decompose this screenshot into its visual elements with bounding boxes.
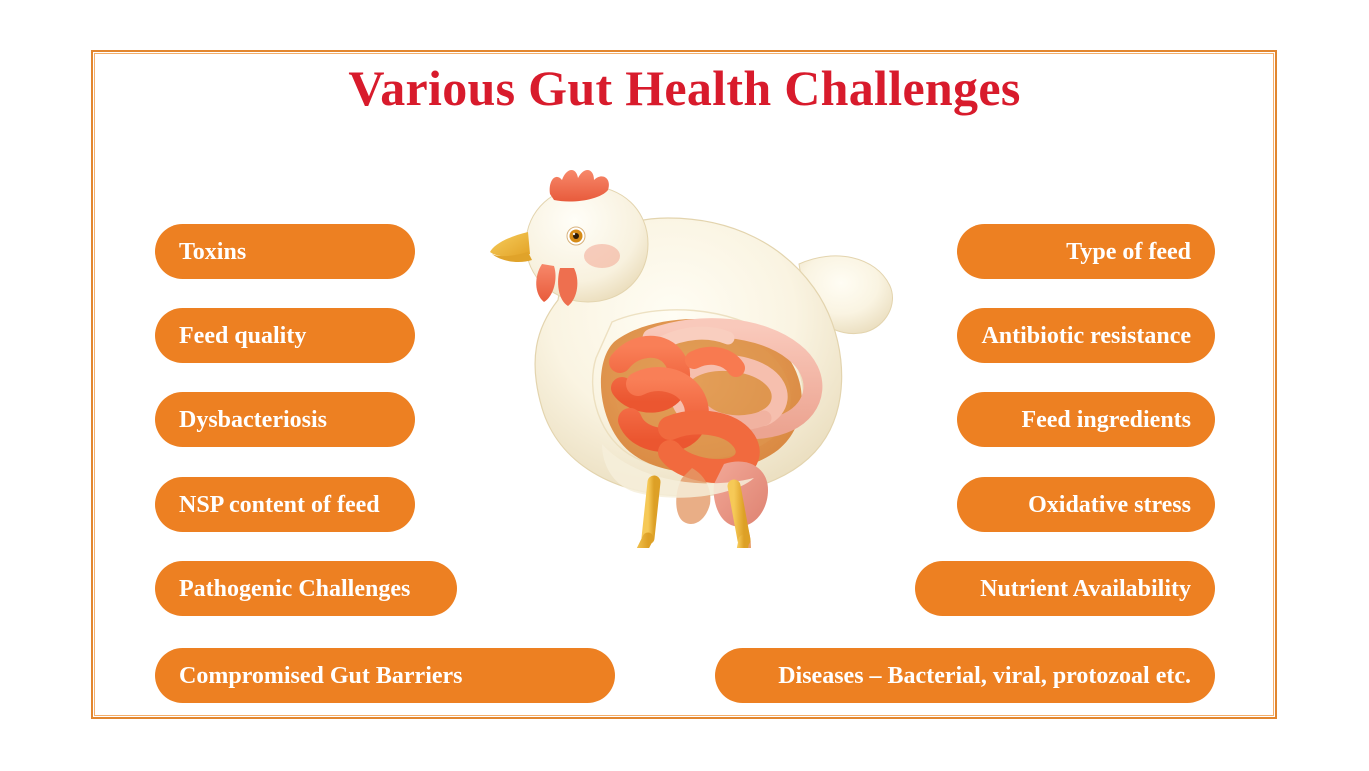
infographic-poster: Various Gut Health Challenges <box>0 0 1369 771</box>
challenge-pill-label: Antibiotic resistance <box>981 323 1215 349</box>
challenge-pill-label: Nutrient Availability <box>980 576 1215 602</box>
challenge-pill-antibiotic-resistance[interactable]: Antibiotic resistance <box>957 308 1215 363</box>
chicken-digestive-anatomy-illustration <box>462 152 898 548</box>
challenge-pill-compromised-gut-barriers[interactable]: Compromised Gut Barriers <box>155 648 615 703</box>
challenge-pill-nsp-content-of-feed[interactable]: NSP content of feed <box>155 477 415 532</box>
challenge-pill-label: NSP content of feed <box>155 492 380 518</box>
challenge-pill-label: Feed quality <box>155 323 306 349</box>
challenge-pill-pathogenic-challenges[interactable]: Pathogenic Challenges <box>155 561 457 616</box>
challenge-pill-nutrient-availability[interactable]: Nutrient Availability <box>915 561 1215 616</box>
challenge-pill-diseases[interactable]: Diseases – Bacterial, viral, protozoal e… <box>715 648 1215 703</box>
challenge-pill-label: Dysbacteriosis <box>155 407 327 433</box>
challenge-pill-label: Toxins <box>155 239 246 265</box>
challenge-pill-feed-quality[interactable]: Feed quality <box>155 308 415 363</box>
challenge-pill-label: Pathogenic Challenges <box>155 576 410 602</box>
challenge-pill-toxins[interactable]: Toxins <box>155 224 415 279</box>
challenge-pill-oxidative-stress[interactable]: Oxidative stress <box>957 477 1215 532</box>
challenge-pill-feed-ingredients[interactable]: Feed ingredients <box>957 392 1215 447</box>
challenge-pill-label: Oxidative stress <box>1028 492 1215 518</box>
challenge-pill-label: Compromised Gut Barriers <box>155 663 463 689</box>
challenge-pill-label: Diseases – Bacterial, viral, protozoal e… <box>778 663 1215 689</box>
page-title: Various Gut Health Challenges <box>0 58 1369 118</box>
challenge-pill-label: Feed ingredients <box>1021 407 1215 433</box>
challenge-pill-label: Type of feed <box>1066 239 1215 265</box>
challenge-pill-dysbacteriosis[interactable]: Dysbacteriosis <box>155 392 415 447</box>
challenge-pill-type-of-feed[interactable]: Type of feed <box>957 224 1215 279</box>
